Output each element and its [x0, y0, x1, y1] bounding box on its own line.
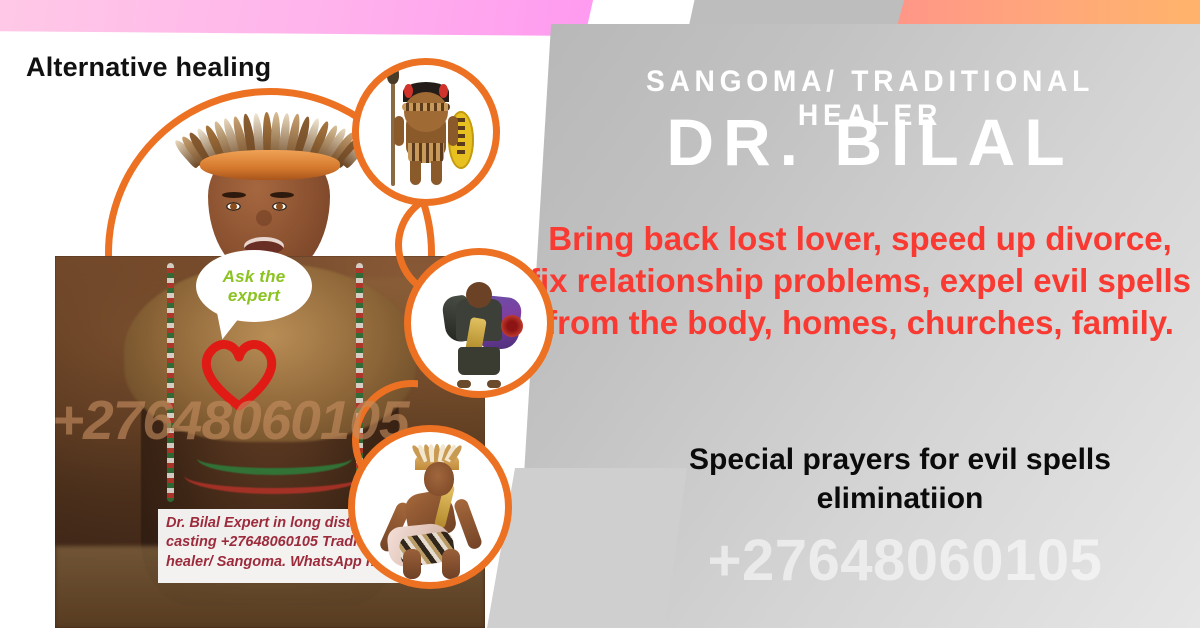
photo-beadstrand-left — [167, 263, 174, 501]
speech-bubble-label: Ask the expert — [196, 267, 312, 305]
portrait-eye-left — [226, 202, 241, 211]
poster-canvas: Alternative healing Ask the expert — [0, 0, 1200, 628]
panel-watermark-phone: +27648060105 — [610, 527, 1200, 594]
diviner-foot-left — [457, 380, 471, 388]
page-title: Alternative healing — [26, 52, 271, 83]
warrior-arm-right — [448, 116, 458, 146]
top-bar-pink — [0, 0, 594, 36]
photo-necklace-red — [184, 457, 365, 494]
portrait-brow-right — [270, 192, 294, 198]
diviner-shield-disc — [501, 315, 523, 337]
robed-diviner-illustration — [404, 248, 554, 398]
warrior-leg-right — [431, 161, 442, 185]
diviner-foot-right — [487, 380, 501, 388]
brand-name: DR. BILAL — [560, 108, 1180, 177]
services-pitch: Bring back lost lover, speed up divorce,… — [528, 218, 1192, 345]
warrior-skirt — [408, 143, 444, 163]
diviner-head — [466, 282, 492, 308]
dancer-leg-right — [442, 549, 460, 579]
portrait-eye-right — [272, 202, 287, 211]
warrior-head — [404, 92, 448, 132]
zulu-warrior-illustration — [352, 58, 500, 206]
portrait-crown-band — [200, 150, 340, 180]
speech-bubble: Ask the expert — [196, 250, 312, 322]
portrait-brow-left — [222, 192, 246, 198]
dancer-leg-left — [403, 549, 421, 579]
warrior-arm-left — [394, 116, 404, 146]
warrior-headband — [402, 103, 450, 111]
dancer-head — [424, 462, 454, 496]
portrait-nose — [256, 210, 272, 226]
subheading: Special prayers for evil spells eliminat… — [610, 440, 1190, 518]
dancer-arm-right — [453, 497, 484, 551]
photo-watermark-phone: +27648060105 — [52, 388, 409, 452]
diviner-trousers — [458, 347, 500, 375]
crouching-dancer-illustration — [348, 425, 512, 589]
warrior-leg-left — [410, 161, 421, 185]
